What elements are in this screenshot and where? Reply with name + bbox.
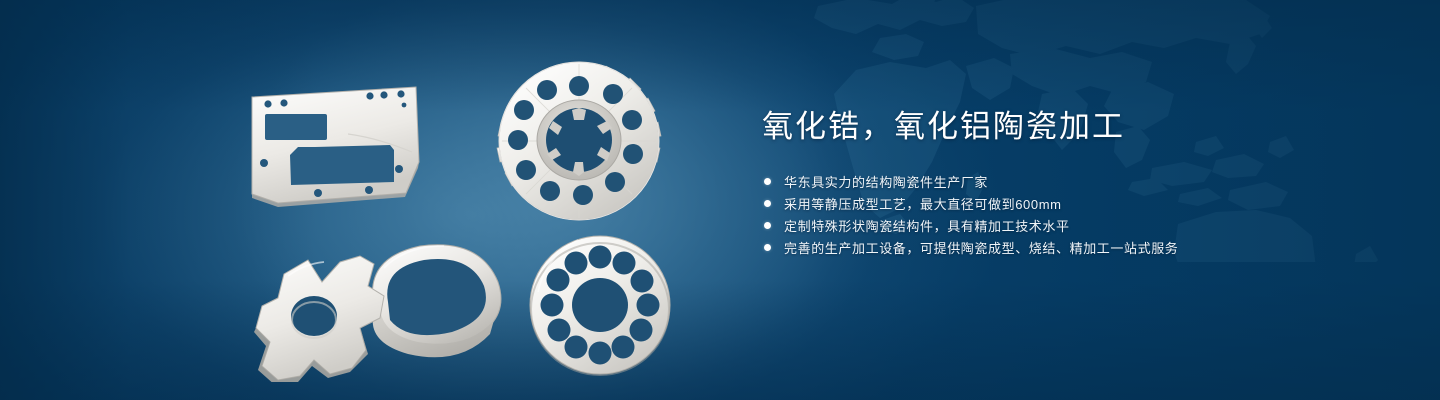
bullet-dot-icon: [764, 222, 771, 229]
bullet-dot-icon: [764, 178, 771, 185]
page-title: 氧化锆，氧化铝陶瓷加工: [762, 108, 1382, 147]
bullet-dot-icon: [764, 244, 771, 251]
feature-text: 定制特殊形状陶瓷结构件，具有精加工技术水平: [784, 216, 1070, 235]
ceramic-star-plate: [254, 256, 384, 382]
ceramic-thin-ring: [372, 245, 500, 358]
ceramic-mounting-plate: [252, 87, 419, 207]
list-item: 华东具实力的结构陶瓷件生产厂家: [764, 171, 1382, 193]
ceramic-perforated-disc: [530, 236, 670, 375]
list-item: 完善的生产加工设备，可提供陶瓷成型、烧结、精加工一站式服务: [764, 237, 1382, 259]
ceramic-products-image: [238, 42, 688, 382]
list-item: 定制特殊形状陶瓷结构件，具有精加工技术水平: [764, 215, 1382, 237]
list-item: 采用等静压成型工艺，最大直径可做到600mm: [764, 193, 1382, 215]
hero-banner: 氧化锆，氧化铝陶瓷加工 华东具实力的结构陶瓷件生产厂家 采用等静压成型工艺，最大…: [0, 0, 1440, 400]
feature-list: 华东具实力的结构陶瓷件生产厂家 采用等静压成型工艺，最大直径可做到600mm 定…: [764, 171, 1382, 259]
bullet-dot-icon: [764, 200, 771, 207]
ceramic-vaned-impeller: [497, 62, 661, 220]
banner-copy: 氧化锆，氧化铝陶瓷加工 华东具实力的结构陶瓷件生产厂家 采用等静压成型工艺，最大…: [762, 108, 1382, 259]
feature-text: 华东具实力的结构陶瓷件生产厂家: [784, 172, 988, 191]
feature-text: 采用等静压成型工艺，最大直径可做到600mm: [784, 194, 1062, 213]
feature-text: 完善的生产加工设备，可提供陶瓷成型、烧结、精加工一站式服务: [784, 238, 1178, 257]
